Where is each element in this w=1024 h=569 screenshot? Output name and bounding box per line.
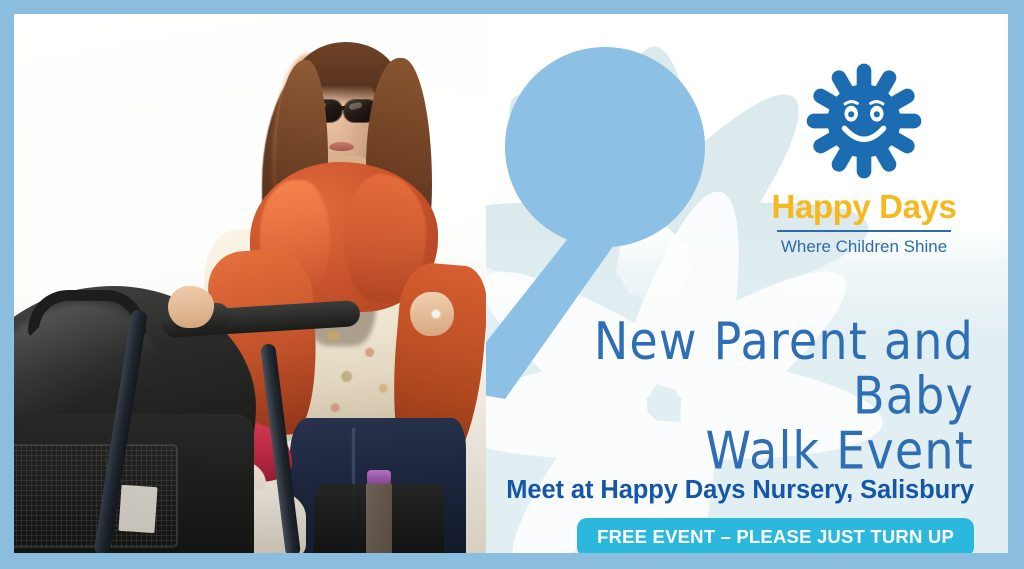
- happy-days-logo: Happy Days Where Children Shine: [770, 60, 958, 255]
- event-headline: New Parent and Baby Walk Event: [484, 314, 974, 478]
- event-location: Meet at Happy Days Nursery, Salisbury: [484, 476, 974, 505]
- free-event-badge: FREE EVENT – PLEASE JUST TURN UP: [577, 518, 974, 553]
- copy-block: New Parent and Baby Walk Event Meet at H…: [484, 314, 974, 553]
- flyer-canvas: Happy Days Where Children Shine New Pare…: [14, 14, 1008, 553]
- event-photo: [14, 14, 486, 553]
- logo-wordmark: Happy Days: [770, 190, 958, 223]
- logo-divider: [777, 230, 951, 232]
- event-flyer: Happy Days Where Children Shine New Pare…: [0, 0, 1024, 569]
- happy-days-sun-icon: [803, 60, 925, 182]
- logo-tagline: Where Children Shine: [770, 238, 958, 255]
